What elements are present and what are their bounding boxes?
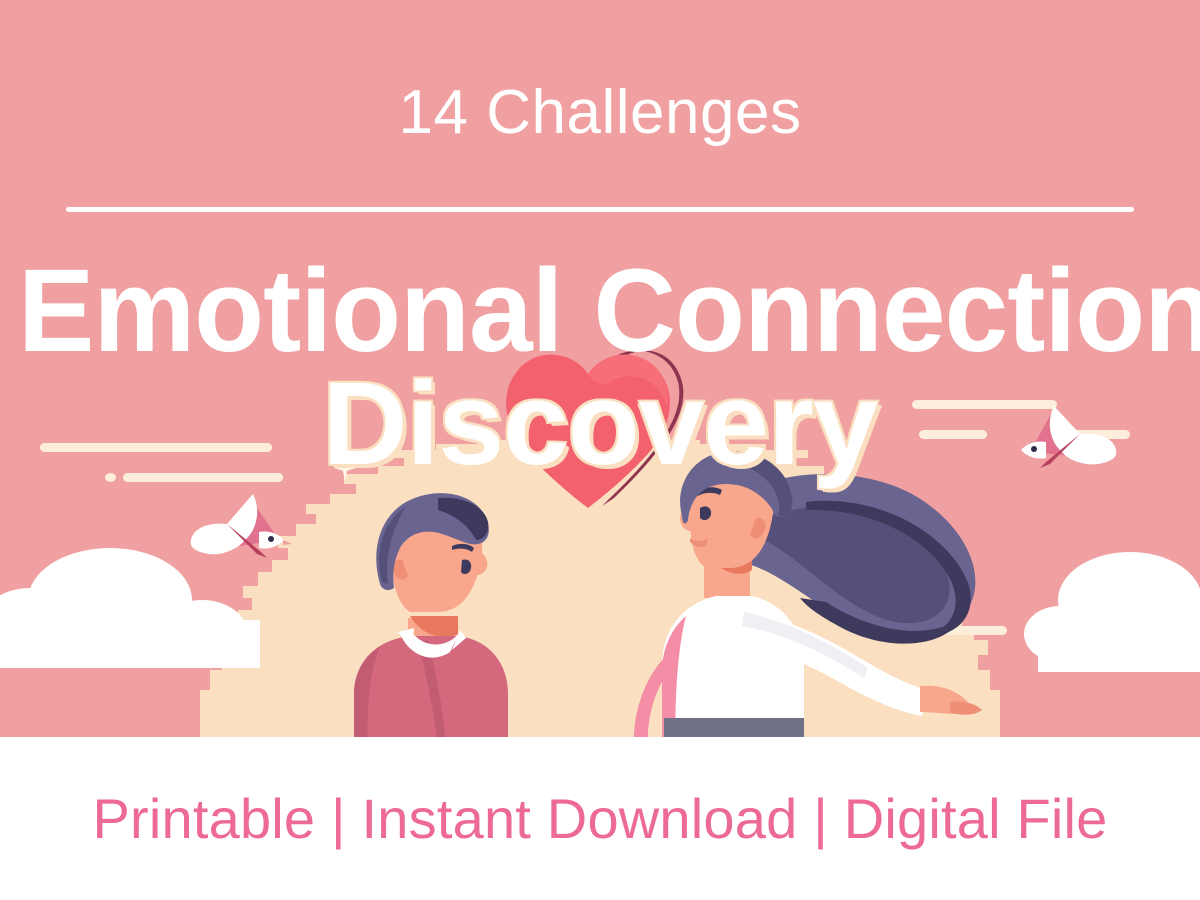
speed-dot-left <box>105 473 116 482</box>
poster-canvas: 14 Challenges Emotional Connection Disco… <box>0 0 1200 900</box>
bird-left-svg <box>183 488 293 568</box>
speed-line-left-2 <box>123 473 283 482</box>
woman-figure-svg <box>620 450 1040 750</box>
eyebrow-title: 14 Challenges <box>0 82 1200 144</box>
speed-line-left-1 <box>40 443 272 452</box>
caption-text: Printable | Instant Download | Digital F… <box>92 791 1107 847</box>
cloud-right-svg <box>1038 552 1200 672</box>
cloud-right <box>1038 552 1200 672</box>
divider-rule <box>66 207 1134 212</box>
bottom-caption-band: Printable | Instant Download | Digital F… <box>0 737 1200 900</box>
woman-figure <box>620 450 1040 750</box>
bird-left-icon <box>183 488 293 568</box>
speed-line-right-2 <box>919 430 987 439</box>
